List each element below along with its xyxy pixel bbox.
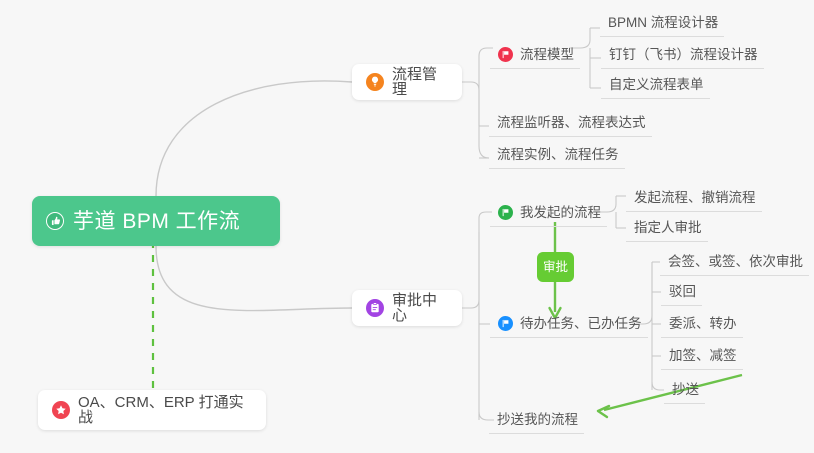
branch-node-approval-center[interactable]: 审批中心 — [352, 290, 462, 326]
leaf-label: 抄送我的流程 — [497, 413, 578, 427]
leaf-label: 抄送 — [672, 383, 699, 397]
bottom-note-label: OA、CRM、ERP 打通实战 — [78, 395, 252, 425]
leaf-label: 自定义流程表单 — [609, 78, 704, 92]
leaf-node-cc-to-me[interactable]: 抄送我的流程 — [489, 406, 584, 434]
leaf-label: 发起流程、撤销流程 — [634, 191, 756, 205]
leaf-node-custom-form[interactable]: 自定义流程表单 — [601, 71, 710, 99]
leaf-node-my-initiated[interactable]: 我发起的流程 — [490, 199, 607, 227]
root-node[interactable]: 芋道 BPM 工作流 — [32, 196, 280, 246]
leaf-label: 驳回 — [669, 285, 696, 299]
flag-icon — [498, 205, 513, 220]
leaf-label: BPMN 流程设计器 — [608, 16, 718, 30]
bottom-note-node[interactable]: OA、CRM、ERP 打通实战 — [38, 390, 266, 430]
leaf-label: 流程模型 — [520, 48, 574, 62]
star-icon — [52, 401, 70, 419]
leaf-label: 指定人审批 — [634, 221, 702, 235]
leaf-node-todo-done-task[interactable]: 待办任务、已办任务 — [490, 310, 648, 338]
branch-label: 审批中心 — [392, 293, 448, 323]
root-label: 芋道 BPM 工作流 — [73, 211, 240, 232]
leaf-node-reject[interactable]: 驳回 — [661, 278, 702, 306]
leaf-node-listener-expression[interactable]: 流程监听器、流程表达式 — [489, 109, 652, 137]
branch-node-process-management[interactable]: 流程管理 — [352, 64, 462, 100]
thumbs-up-icon — [46, 212, 64, 230]
approval-badge-label: 审批 — [543, 261, 568, 274]
leaf-label: 会签、或签、依次审批 — [668, 255, 803, 269]
leaf-node-dingtalk-designer[interactable]: 钉钉（飞书）流程设计器 — [601, 41, 764, 69]
leaf-node-countersign[interactable]: 会签、或签、依次审批 — [660, 248, 809, 276]
approval-badge: 审批 — [537, 252, 574, 282]
leaf-label: 流程实例、流程任务 — [497, 148, 619, 162]
leaf-label: 待办任务、已办任务 — [520, 317, 642, 331]
flag-icon — [498, 47, 513, 62]
leaf-node-add-remove-sign[interactable]: 加签、减签 — [661, 342, 743, 370]
leaf-node-cc[interactable]: 抄送 — [664, 376, 705, 404]
mindmap-canvas: 芋道 BPM 工作流 流程管理 流程模型 BPMN 流程设计器 钉钉（飞书）流程 — [0, 0, 814, 453]
leaf-node-assignee-approval[interactable]: 指定人审批 — [626, 214, 708, 242]
leaf-node-start-cancel[interactable]: 发起流程、撤销流程 — [626, 184, 762, 212]
leaf-node-bpmn-designer[interactable]: BPMN 流程设计器 — [600, 9, 724, 37]
flag-icon — [498, 316, 513, 331]
clipboard-icon — [366, 299, 384, 317]
leaf-node-instance-task[interactable]: 流程实例、流程任务 — [489, 141, 625, 169]
branch-label: 流程管理 — [392, 67, 448, 97]
lightbulb-icon — [366, 73, 384, 91]
leaf-label: 我发起的流程 — [520, 206, 601, 220]
leaf-label: 加签、减签 — [669, 349, 737, 363]
leaf-node-process-model[interactable]: 流程模型 — [490, 41, 580, 69]
leaf-label: 委派、转办 — [669, 317, 737, 331]
leaf-label: 流程监听器、流程表达式 — [497, 116, 646, 130]
leaf-node-delegate-transfer[interactable]: 委派、转办 — [661, 310, 743, 338]
leaf-label: 钉钉（飞书）流程设计器 — [609, 48, 758, 62]
